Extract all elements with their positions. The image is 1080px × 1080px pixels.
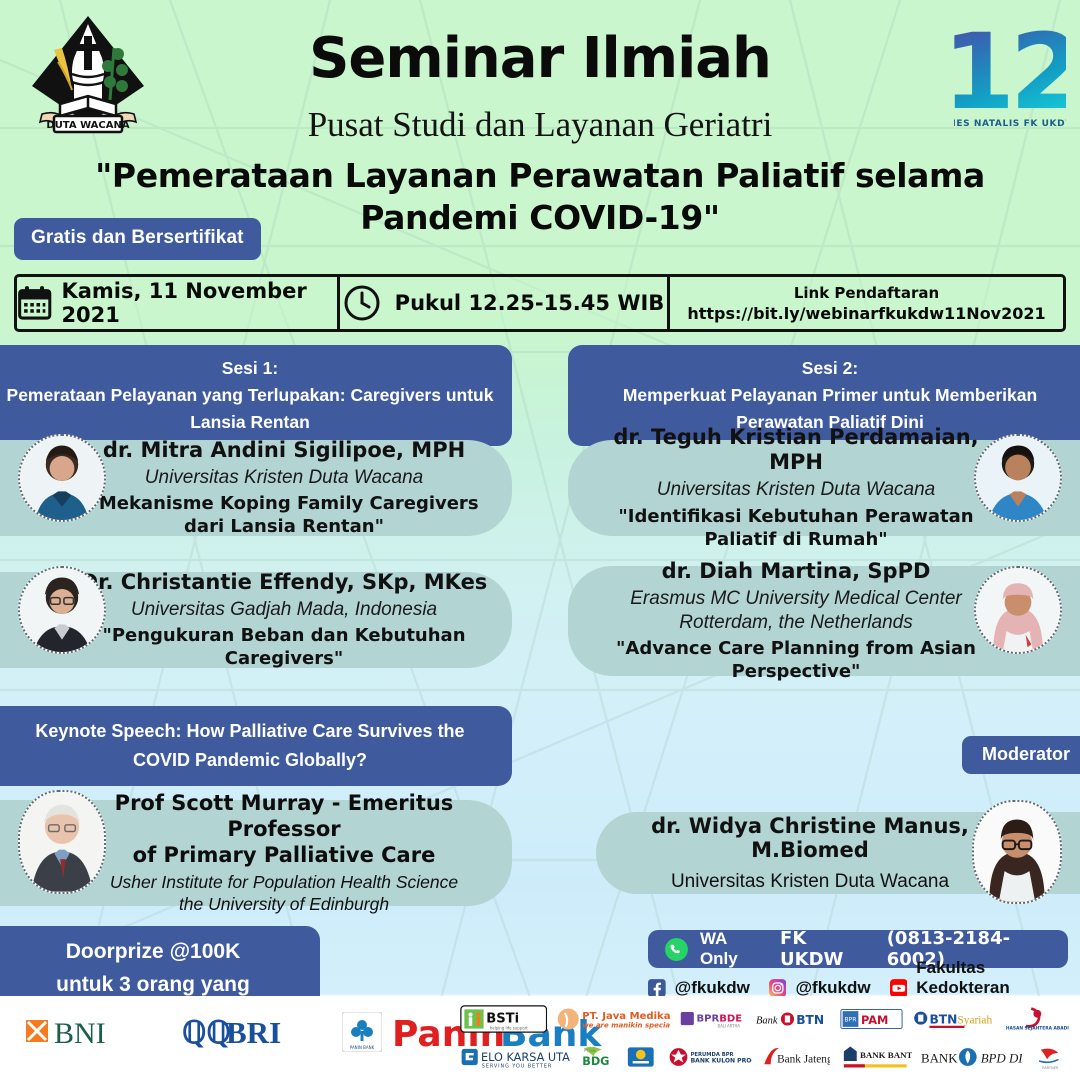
svg-text:SERVING YOU BETTER: SERVING YOU BETTER [482,1063,552,1069]
svg-text:helping life support: helping life support [490,1025,529,1030]
svg-text:BPD DIY: BPD DIY [980,1052,1022,1066]
svg-text:ELO KARSA UTAMA: ELO KARSA UTAMA [481,1051,570,1064]
speaker-affiliation: Erasmus MC University Medical Center Rot… [592,587,1000,635]
sponsor-footer: BNI ℚℚ BRI PANIN BANK Panin Bank [0,996,1080,1080]
keynote-name: Prof Scott Murray - Emeritus Professor o… [80,790,488,869]
speaker-topic: "Pengukuran Beban dan Kebutuhan Caregive… [80,625,488,670]
keynote-name-line-2: of Primary Palliative Care [133,843,436,867]
svg-text:PT BIN: PT BIN [584,1049,596,1053]
session-1-number: Sesi 1: [4,355,496,382]
registration-url[interactable]: https://bit.ly/webinarfkukdw11Nov2021 [687,304,1045,323]
registration-link-cell[interactable]: Link Pendaftaran https://bit.ly/webinarf… [667,277,1063,329]
bni-logo: BNI [22,1010,172,1054]
session-2-number: Sesi 2: [584,355,1076,382]
session-1-title: Pemerataan Pelayanan yang Terlupakan: Ca… [7,385,494,432]
poster-canvas: DUTA WACANA 12 DIES NATALIS FK UKDW Semi… [0,0,1080,1080]
svg-text:BANK BANTUL: BANK BANTUL [860,1050,912,1060]
moderator-affiliation: Universitas Kristen Duta Wacana [620,871,1000,893]
speaker-topic: "Mekanisme Koping Family Caregivers dari… [80,493,488,538]
svg-text:BNI: BNI [54,1017,106,1050]
event-date: Kamis, 11 November 2021 [61,279,337,327]
sponsor-row-2: ELO KARSA UTAMA SERVING YOU BETTER BDG P… [460,1038,1070,1076]
sponsor-row-1: BSTi helping life support PT. Java Medik… [460,1000,1070,1038]
svg-text:Bank Jateng: Bank Jateng [777,1054,830,1066]
sponsor-logo: PARTNER [1031,1040,1070,1074]
avatar [18,566,106,654]
speaker-affiliation: Universitas Kristen Duta Wacana [592,478,1000,502]
page-title: Seminar Ilmiah [0,26,1080,91]
java-medika-utama-logo: PT. Java Medika Utama we are manikin spe… [556,1003,670,1035]
calendar-icon [17,283,52,323]
speaker-topic: "Identifikasi Kebutuhan Perawatan Paliat… [592,506,1000,551]
bank-bantul-logo: BANK BANTUL [839,1040,912,1074]
bri-logo: ℚℚ BRI [182,1010,332,1054]
doorprize-line-1: Doorprize @100K [66,940,241,963]
bpr-bde-logo: BPR BDE BALI ARTHA [679,1003,747,1035]
svg-text:PARTNER: PARTNER [1042,1066,1059,1070]
moderator-badge: Moderator [962,736,1080,774]
svg-text:BTN: BTN [930,1012,958,1026]
svg-text:BTN: BTN [796,1013,824,1027]
keynote-aff-line-2: the University of Edinburgh [179,894,389,914]
whatsapp-icon [664,937,689,962]
svg-text:PT. Java Medika Utama: PT. Java Medika Utama [583,1011,670,1022]
svg-text:BANK KULON PROGO: BANK KULON PROGO [690,1058,751,1065]
svg-text:BSTi: BSTi [486,1011,519,1026]
speaker-name: dr. Mitra Andini Sigilipoe, MPH [80,438,488,463]
elo-karsa-utama-logo: ELO KARSA UTAMA SERVING YOU BETTER [460,1040,570,1074]
panin-bank-mark: PANIN BANK [342,1012,382,1052]
bank-kulon-progo-logo: PERUMDA BPR BANK KULON PROGO [668,1040,752,1074]
avatar [18,434,106,522]
avatar [972,800,1062,904]
hasan-sejahtera-abadi-logo: HASAN SEJAHTERA ABADI [1005,1003,1070,1035]
bank-bpd-diy-logo: BANK BPD DIY [921,1040,1023,1074]
avatar [974,566,1062,654]
keynote-aff-line-1: Usher Institute for Population Health Sc… [110,872,458,892]
speaker-affiliation: Universitas Kristen Duta Wacana [80,466,488,490]
svg-text:HASAN SEJAHTERA ABADI: HASAN SEJAHTERA ABADI [1006,1025,1069,1031]
svg-text:BANK: BANK [921,1052,958,1066]
instagram-handle[interactable]: @fkukdw [795,978,870,998]
speaker-name: Dr. Christantie Effendy, SKp, MKes [80,570,488,595]
event-info-bar: Kamis, 11 November 2021 Pukul 12.25-15.4… [14,274,1066,332]
free-certificate-badge: Gratis dan Bersertifikat [14,218,261,260]
svg-text:we are manikin specialist: we are manikin specialist [583,1022,670,1030]
bpr-pam-logo: BPR PAM [840,1004,903,1034]
speaker-name: dr. Teguh Kristian Perdamaian, MPH [592,425,1000,475]
secondary-sponsors: BSTi helping life support PT. Java Medik… [460,1000,1070,1076]
avatar [974,434,1062,522]
event-time: Pukul 12.25-15.45 WIB [395,291,665,315]
registration-label: Link Pendaftaran [794,284,939,302]
svg-text:BRI: BRI [226,1015,281,1050]
clock-icon [343,284,381,322]
bank-jogja-mark [623,1040,659,1074]
keynote-affiliation: Usher Institute for Population Health Sc… [80,871,488,917]
svg-text:PANIN BANK: PANIN BANK [350,1045,375,1050]
event-time-cell: Pukul 12.25-15.45 WIB [337,277,667,329]
keynote-name-line-1: Prof Scott Murray - Emeritus Professor [115,791,454,841]
bank-btn-logo: Bank BTN [756,1004,831,1034]
moderator-name: dr. Widya Christine Manus, M.Biomed [620,814,1000,862]
pt-bdg-logo: BDG PT BIN [579,1040,615,1074]
event-date-cell: Kamis, 11 November 2021 [17,277,337,329]
speaker-name: dr. Diah Martina, SpPD [592,559,1000,584]
whatsapp-name: FK UKDW [780,928,876,970]
svg-text:BALI ARTHA: BALI ARTHA [718,1024,741,1029]
bsti-logo: BSTi helping life support [460,1003,547,1035]
svg-text:BPR: BPR [697,1014,720,1025]
whatsapp-label: WA Only [700,929,769,969]
svg-text:PAM: PAM [861,1013,888,1027]
svg-text:ℚℚ: ℚℚ [182,1015,231,1050]
svg-text:Syariah: Syariah [958,1014,993,1026]
speaker-topic: "Advance Care Planning from Asian Perspe… [592,638,1000,683]
session-1-header: Sesi 1: Pemerataan Pelayanan yang Terlup… [0,345,512,446]
page-subtitle: Pusat Studi dan Layanan Geriatri [0,105,1080,145]
speaker-affiliation: Universitas Gadjah Mada, Indonesia [80,598,488,622]
keynote-header: Keynote Speech: How Palliative Care Surv… [0,706,512,786]
btn-syariah-logo: BTN Syariah [912,1004,996,1034]
svg-text:Bank: Bank [756,1015,778,1026]
bank-jateng-logo: Bank Jateng [761,1040,830,1074]
facebook-handle[interactable]: @fkukdw [675,978,750,998]
avatar [18,790,106,894]
topic-line-1: "Pemerataan Layanan Perawatan Paliatif s… [95,156,985,195]
svg-text:BPR: BPR [845,1017,858,1024]
svg-text:BDG: BDG [582,1055,609,1068]
topic-line-2: Pandemi COVID-19" [360,198,719,237]
